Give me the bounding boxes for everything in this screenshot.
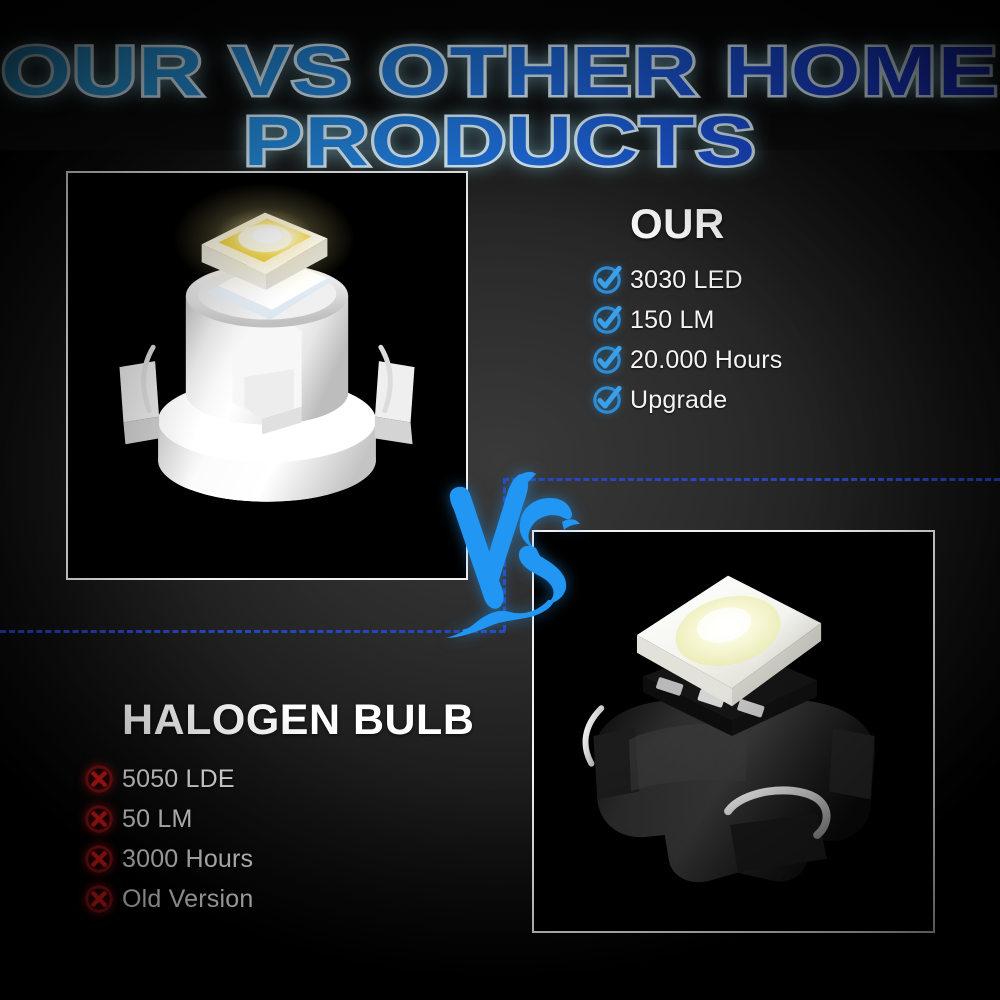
check-circle-icon xyxy=(592,265,622,295)
page-title-text: OUR VS OTHER HOME PRODUCTS xyxy=(0,36,1000,176)
list-item-label: Old Version xyxy=(122,885,253,914)
cross-circle-icon xyxy=(84,764,114,794)
page-title: OUR VS OTHER HOME PRODUCTS OUR VS OTHER … xyxy=(0,36,1000,176)
list-item-label: 3000 Hours xyxy=(122,845,253,874)
list-item-label: 20.000 Hours xyxy=(630,346,783,375)
list-item-label: 150 LM xyxy=(630,306,715,335)
list-item: 3000 Hours xyxy=(84,839,514,879)
cross-circle-icon xyxy=(84,804,114,834)
comparison-infographic: OUR VS OTHER HOME PRODUCTS OUR VS OTHER … xyxy=(0,0,1000,1000)
cross-circle-icon xyxy=(84,844,114,874)
check-circle-icon xyxy=(592,305,622,335)
our-product-photo xyxy=(66,171,468,580)
list-item: Upgrade xyxy=(592,380,962,420)
list-item: Old Version xyxy=(84,879,514,919)
other-feature-list: 5050 LDE 50 LM 3000 Hours xyxy=(84,759,514,919)
other-spec-block: HALOGEN BULB 5050 LDE 50 LM xyxy=(84,696,514,919)
our-feature-list: 3030 LED 150 LM 20.000 Hours xyxy=(592,260,962,420)
list-item: 50 LM xyxy=(84,799,514,839)
list-item: 3030 LED xyxy=(592,260,962,300)
list-item: 20.000 Hours xyxy=(592,340,962,380)
black-halogen-bulb-illustration xyxy=(534,532,933,931)
list-item: 5050 LDE xyxy=(84,759,514,799)
list-item-label: 3030 LED xyxy=(630,266,743,295)
versus-icon xyxy=(444,470,584,642)
our-heading: OUR xyxy=(630,200,962,248)
other-product-photo xyxy=(532,530,935,933)
check-circle-icon xyxy=(592,385,622,415)
check-circle-icon xyxy=(592,345,622,375)
white-led-bulb-illustration xyxy=(68,173,466,578)
list-item-label: 50 LM xyxy=(122,805,192,834)
other-heading: HALOGEN BULB xyxy=(122,696,514,745)
list-item-label: 5050 LDE xyxy=(122,765,235,794)
list-item: 150 LM xyxy=(592,300,962,340)
our-spec-block: OUR 3030 LED 150 LM xyxy=(592,200,962,420)
cross-circle-icon xyxy=(84,884,114,914)
list-item-label: Upgrade xyxy=(630,386,727,415)
